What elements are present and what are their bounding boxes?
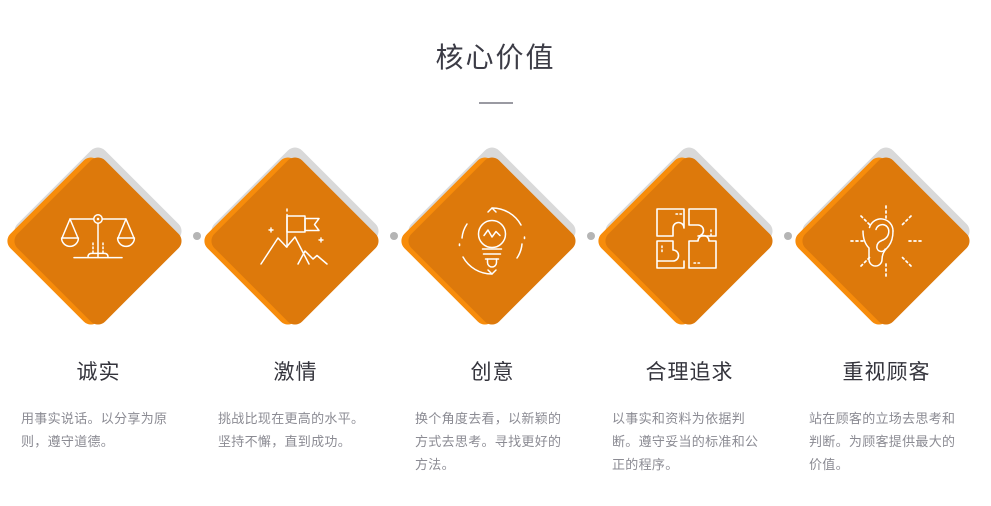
value-card-honesty[interactable]: 诚实 用事实说话。以分享为原则，遵守道德。 xyxy=(0,143,197,453)
value-card-customer-focus[interactable]: 重视顾客 站在顾客的立场去思考和判断。为顾客提供最大的价值。 xyxy=(788,143,985,476)
card-description: 站在顾客的立场去思考和判断。为顾客提供最大的价值。 xyxy=(809,407,964,476)
card-description: 换个角度去看，以新颖的方式去思考。寻找更好的方法。 xyxy=(415,407,570,476)
diamond-badge[interactable] xyxy=(0,143,197,339)
card-title: 合理追求 xyxy=(646,359,734,387)
diamond-badge[interactable] xyxy=(788,143,985,339)
card-title: 重视顾客 xyxy=(843,359,931,387)
diamond-badge[interactable] xyxy=(197,143,394,339)
value-cards-row: 诚实 用事实说话。以分享为原则，遵守道德。 xyxy=(0,143,991,476)
balance-scale-icon xyxy=(36,179,160,303)
card-title: 诚实 xyxy=(77,359,121,387)
card-title: 创意 xyxy=(471,359,515,387)
lightbulb-refresh-icon xyxy=(430,179,554,303)
title-divider xyxy=(479,102,513,104)
page-title: 核心价值 xyxy=(0,38,991,78)
card-description: 用事实说话。以分享为原则，遵守道德。 xyxy=(21,407,176,453)
diamond-badge[interactable] xyxy=(591,143,788,339)
diamond-badge[interactable] xyxy=(394,143,591,339)
value-card-creativity[interactable]: 创意 换个角度去看，以新颖的方式去思考。寻找更好的方法。 xyxy=(394,143,591,476)
core-values-page: 核心价值 xyxy=(0,0,991,506)
card-title: 激情 xyxy=(274,359,318,387)
puzzle-pieces-icon xyxy=(627,179,751,303)
card-description: 挑战比现在更高的水平。坚持不懈，直到成功。 xyxy=(218,407,373,453)
page-header: 核心价值 xyxy=(0,38,991,104)
flag-mountain-icon xyxy=(233,179,357,303)
card-description: 以事实和资料为依据判断。遵守妥当的标准和公正的程序。 xyxy=(612,407,767,476)
value-card-fair-pursuit[interactable]: 合理追求 以事实和资料为依据判断。遵守妥当的标准和公正的程序。 xyxy=(591,143,788,476)
value-card-passion[interactable]: 激情 挑战比现在更高的水平。坚持不懈，直到成功。 xyxy=(197,143,394,453)
ear-listening-icon xyxy=(824,179,948,303)
